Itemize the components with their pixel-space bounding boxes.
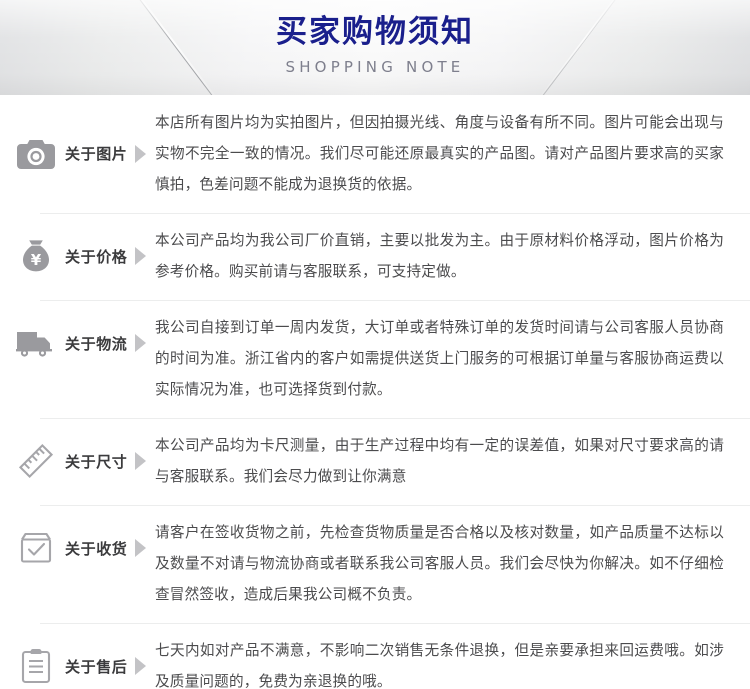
play-arrow-icon xyxy=(134,334,147,352)
note-text: 本店所有图片均为实拍图片，但因拍摄光线、角度与设备有所不同。图片可能会出现与实物… xyxy=(155,107,732,200)
note-label: 关于物流 xyxy=(65,333,127,354)
note-row: 关于售后 七天内如对产品不满意，不影响二次销售无条件退换，但是亲要承担来回运费哦… xyxy=(0,623,750,689)
note-row-header: 关于收货 xyxy=(0,517,155,579)
note-list: 关于图片 本店所有图片均为实拍图片，但因拍摄光线、角度与设备有所不同。图片可能会… xyxy=(0,95,750,689)
clipboard-icon xyxy=(16,646,56,686)
play-arrow-icon xyxy=(134,657,147,675)
truck-icon xyxy=(16,323,56,363)
note-row-header: 关于物流 xyxy=(0,312,155,374)
note-text: 本公司产品均为我公司厂价直销，主要以批发为主。由于原材料价格浮动，图片价格为参考… xyxy=(155,225,732,287)
note-text: 请客户在签收货物之前，先检查货物质量是否合格以及核对数量，如产品质量不达标以及数… xyxy=(155,517,732,610)
note-row-header: 关于尺寸 xyxy=(0,430,155,492)
page-subtitle: SHOPPING NOTE xyxy=(0,58,750,76)
page-title: 买家购物须知 xyxy=(0,14,750,52)
note-text: 本公司产品均为卡尺测量，由于生产过程中均有一定的误差值，如果对尺寸要求高的请与客… xyxy=(155,430,732,492)
note-row-header: 关于图片 xyxy=(0,123,155,185)
box-check-icon xyxy=(16,528,56,568)
shopping-note-page: 买家购物须知 SHOPPING NOTE 关于图片 xyxy=(0,0,750,689)
note-text: 七天内如对产品不满意，不影响二次销售无条件退换，但是亲要承担来回运费哦。如涉及质… xyxy=(155,635,732,689)
note-label: 关于价格 xyxy=(65,246,127,267)
play-arrow-icon xyxy=(134,452,147,470)
money-bag-icon: ¥ xyxy=(16,236,56,276)
note-row: 关于尺寸 本公司产品均为卡尺测量，由于生产过程中均有一定的误差值，如果对尺寸要求… xyxy=(0,418,750,505)
banner-text-block: 买家购物须知 SHOPPING NOTE xyxy=(0,14,750,76)
note-label: 关于收货 xyxy=(65,538,127,559)
note-label: 关于尺寸 xyxy=(65,451,127,472)
svg-text:¥: ¥ xyxy=(31,251,42,269)
play-arrow-icon xyxy=(134,145,147,163)
note-row: ¥ 关于价格 本公司产品均为我公司厂价直销，主要以批发为主。由于原材料价格浮动，… xyxy=(0,213,750,300)
note-row-header: 关于售后 xyxy=(0,635,155,689)
note-row: 关于图片 本店所有图片均为实拍图片，但因拍摄光线、角度与设备有所不同。图片可能会… xyxy=(0,95,750,213)
note-row: 关于收货 请客户在签收货物之前，先检查货物质量是否合格以及核对数量，如产品质量不… xyxy=(0,505,750,623)
ruler-icon xyxy=(16,441,56,481)
note-text: 我公司自接到订单一周内发货，大订单或者特殊订单的发货时间请与公司客服人员协商的时… xyxy=(155,312,732,405)
note-row: 关于物流 我公司自接到订单一周内发货，大订单或者特殊订单的发货时间请与公司客服人… xyxy=(0,300,750,418)
note-label: 关于售后 xyxy=(65,656,127,677)
play-arrow-icon xyxy=(134,539,147,557)
page-banner: 买家购物须知 SHOPPING NOTE xyxy=(0,0,750,95)
note-row-header: ¥ 关于价格 xyxy=(0,225,155,287)
note-label: 关于图片 xyxy=(65,143,127,164)
play-arrow-icon xyxy=(134,247,147,265)
camera-icon xyxy=(16,134,56,174)
